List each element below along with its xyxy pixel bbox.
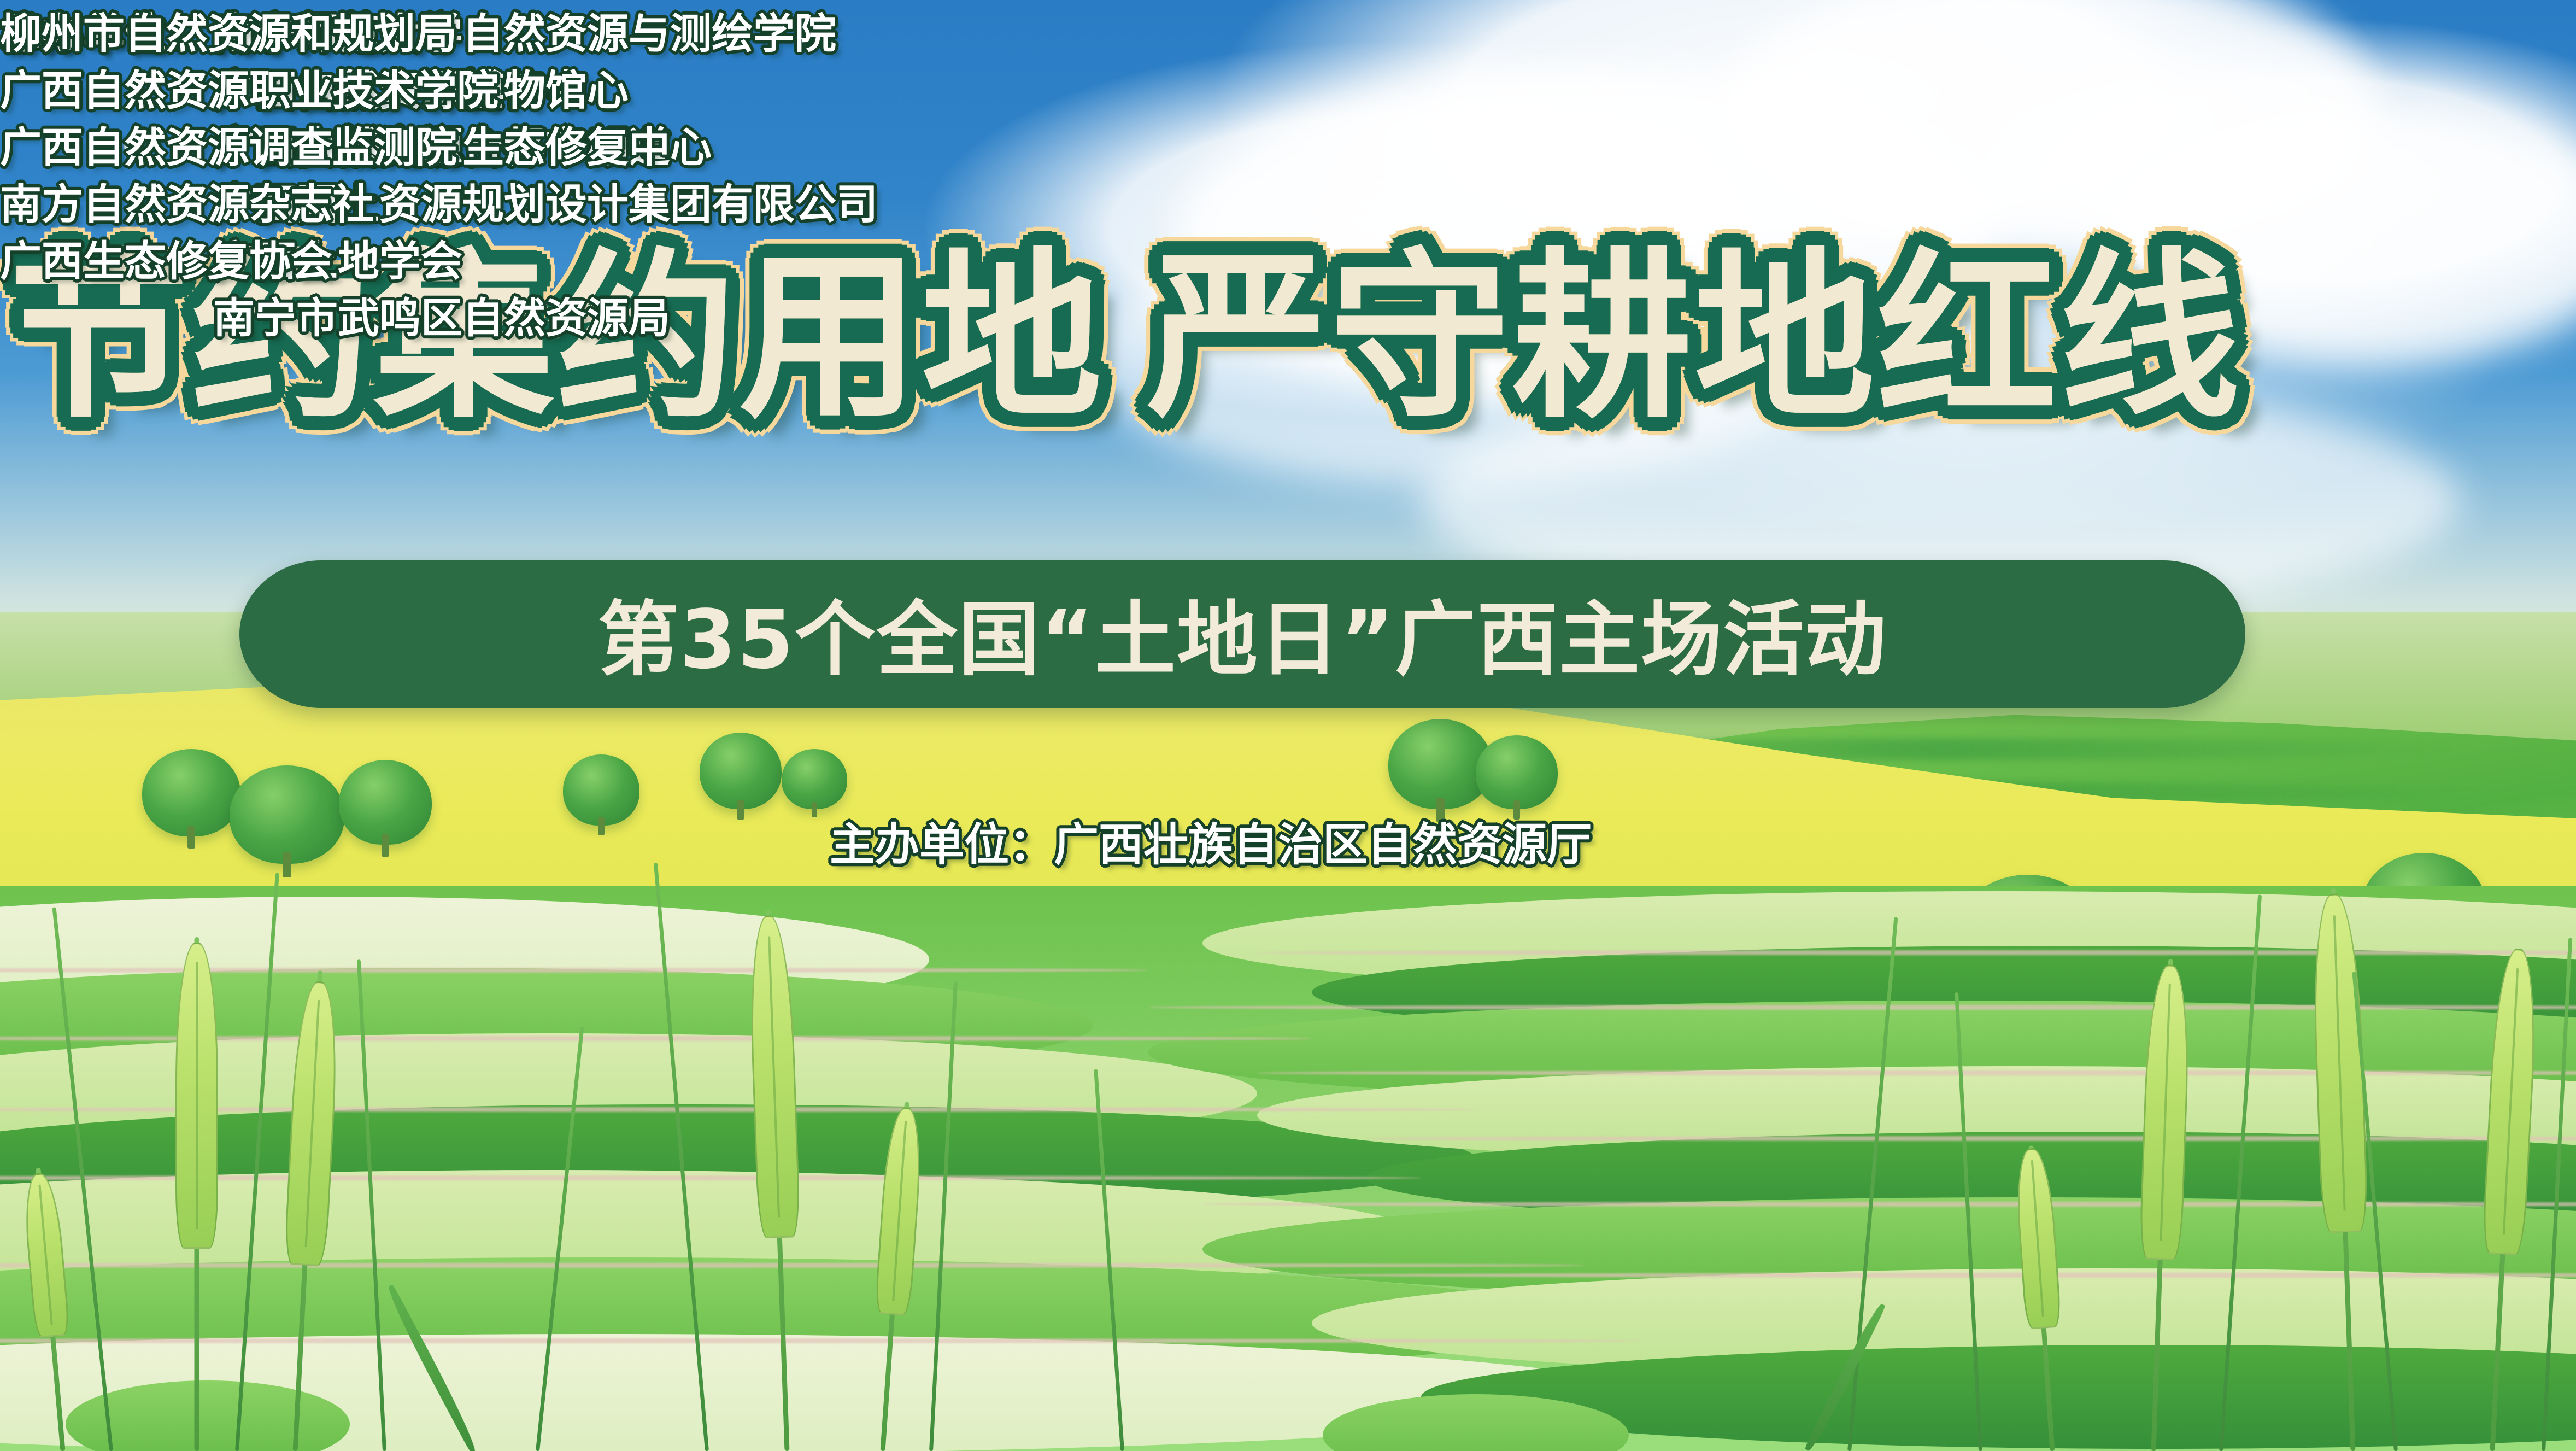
main-title-part2: 严守耕地红线 — [1147, 232, 2242, 442]
supporter-item-2: 广西自然资源调查监测院 — [0, 114, 457, 174]
tree-icon — [339, 760, 432, 845]
tree-icon — [700, 733, 782, 809]
supporter-item-4: 广西生态修复协会 — [0, 227, 332, 288]
wheat-stalk — [164, 937, 230, 1451]
subtitle-banner: 第35个全国“土地日”广西主场活动 — [239, 560, 2245, 708]
subtitle-text: 第35个全国“土地日”广西主场活动 — [598, 574, 1887, 691]
host-line: 主办单位：广西壮族自治区自然资源厅 — [830, 808, 1592, 873]
supporter-item-0: 柳州市自然资源和规划局 — [0, 0, 457, 60]
tree-icon — [1476, 735, 1558, 809]
tree-icon — [782, 749, 847, 809]
supporter-item-3: 南方自然资源杂志社 — [0, 171, 374, 231]
tree-icon — [230, 765, 344, 864]
tree-icon — [563, 754, 639, 826]
supporter-item-1: 广西自然资源职业技术学院 — [0, 57, 498, 117]
poster-canvas: 节约集约用地严守耕地红线 第35个全国“土地日”广西主场活动 主办单位：广西壮族… — [0, 0, 2576, 1451]
co-organizer-item-5: 南宁市武鸣区自然资源局 — [213, 284, 670, 344]
tree-icon — [142, 749, 240, 836]
